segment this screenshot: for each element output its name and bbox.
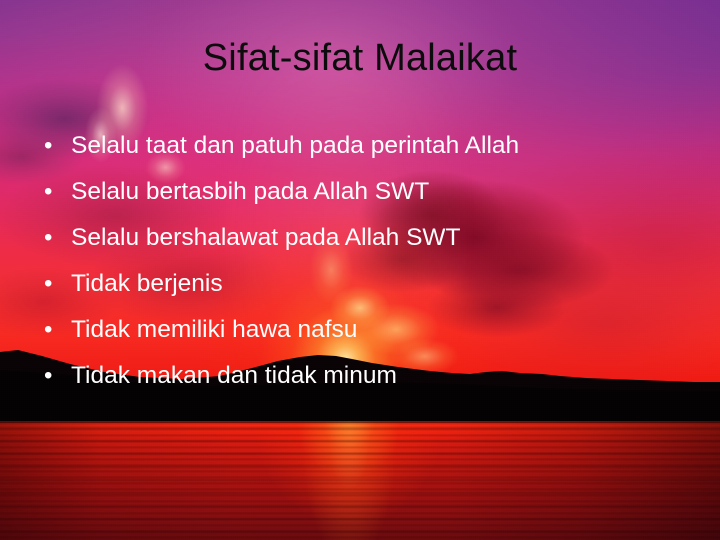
list-item-label: Selalu bertasbih pada Allah SWT bbox=[71, 177, 690, 207]
slide-content: Sifat-sifat Malaikat • Selalu taat dan p… bbox=[0, 0, 720, 540]
bullet-point-icon: • bbox=[44, 269, 71, 299]
list-item-label: Tidak memiliki hawa nafsu bbox=[71, 315, 690, 345]
bullet-point-icon: • bbox=[44, 315, 71, 345]
list-item: • Selalu bershalawat pada Allah SWT bbox=[44, 223, 690, 269]
list-item: • Tidak makan dan tidak minum bbox=[44, 361, 690, 407]
bullet-point-icon: • bbox=[44, 131, 71, 161]
bullet-point-icon: • bbox=[44, 361, 71, 391]
bullet-point-icon: • bbox=[44, 177, 71, 207]
bullet-point-icon: • bbox=[44, 223, 71, 253]
presentation-slide: Sifat-sifat Malaikat • Selalu taat dan p… bbox=[0, 0, 720, 540]
list-item: • Selalu taat dan patuh pada perintah Al… bbox=[44, 131, 690, 177]
list-item-label: Selalu bershalawat pada Allah SWT bbox=[71, 223, 690, 253]
list-item-label: Selalu taat dan patuh pada perintah Alla… bbox=[71, 131, 690, 161]
list-item: • Selalu bertasbih pada Allah SWT bbox=[44, 177, 690, 223]
list-item-label: Tidak makan dan tidak minum bbox=[71, 361, 690, 391]
list-item: • Tidak berjenis bbox=[44, 269, 690, 315]
bullet-list: • Selalu taat dan patuh pada perintah Al… bbox=[44, 131, 690, 407]
list-item-label: Tidak berjenis bbox=[71, 269, 690, 299]
slide-title: Sifat-sifat Malaikat bbox=[0, 38, 720, 80]
list-item: • Tidak memiliki hawa nafsu bbox=[44, 315, 690, 361]
